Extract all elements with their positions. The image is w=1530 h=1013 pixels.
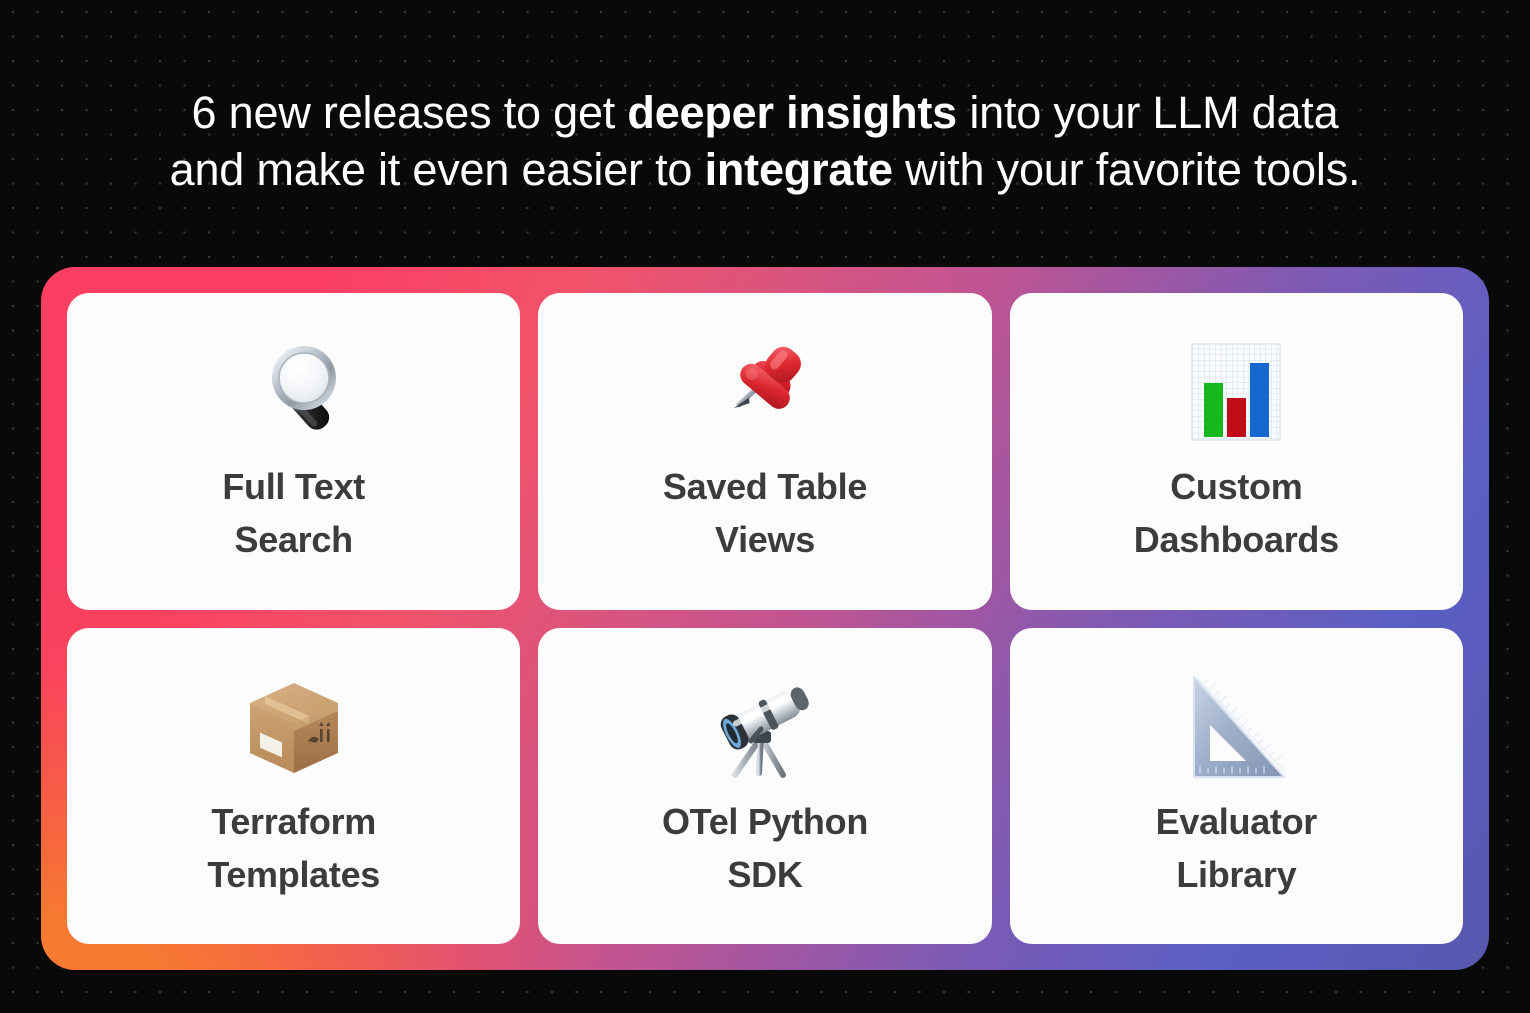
feature-card-full-text-search[interactable]: Full Text Search <box>67 293 520 610</box>
feature-card-row-top: Full Text Search <box>67 293 1463 610</box>
bar-chart-icon <box>1176 332 1296 452</box>
feature-card-label: Custom Dashboards <box>1134 460 1339 566</box>
feature-grid-panel: Full Text Search <box>41 267 1489 970</box>
feature-card-label: Full Text Search <box>222 460 365 566</box>
card-label-line-2: SDK <box>662 848 868 901</box>
card-label-line-1: Saved Table <box>663 460 867 513</box>
card-label-line-1: Custom <box>1134 460 1339 513</box>
headline-emphasis-1: deeper insights <box>627 87 957 138</box>
feature-card-custom-dashboards[interactable]: Custom Dashboards <box>1010 293 1463 610</box>
card-label-line-2: Dashboards <box>1134 513 1339 566</box>
card-label-line-2: Library <box>1156 848 1317 901</box>
feature-card-terraform-templates[interactable]: Terraform Templates <box>67 628 520 945</box>
feature-card-label: OTel Python SDK <box>662 795 868 901</box>
headline-emphasis-2: integrate <box>705 144 893 195</box>
feature-card-row-bottom: Terraform Templates <box>67 628 1463 945</box>
triangular-ruler-icon <box>1176 667 1296 787</box>
package-box-icon <box>234 667 354 787</box>
feature-card-label: Evaluator Library <box>1156 795 1317 901</box>
pushpin-icon <box>705 332 825 452</box>
card-label-line-2: Templates <box>207 848 380 901</box>
card-label-line-1: Full Text <box>222 460 365 513</box>
card-label-line-2: Views <box>663 513 867 566</box>
headline-text-1b: into your LLM data <box>957 87 1338 138</box>
page-headline: 6 new releases to get deeper insights in… <box>0 84 1530 198</box>
headline-line-2: and make it even easier to integrate wit… <box>0 141 1530 198</box>
telescope-icon <box>705 667 825 787</box>
headline-text-2a: and make it even easier to <box>170 144 705 195</box>
card-label-line-1: Evaluator <box>1156 795 1317 848</box>
feature-card-label: Terraform Templates <box>207 795 380 901</box>
headline-text-2b: with your favorite tools. <box>893 144 1361 195</box>
feature-card-otel-python-sdk[interactable]: OTel Python SDK <box>538 628 991 945</box>
card-label-line-1: OTel Python <box>662 795 868 848</box>
feature-card-evaluator-library[interactable]: Evaluator Library <box>1010 628 1463 945</box>
card-label-line-2: Search <box>222 513 365 566</box>
feature-card-saved-table-views[interactable]: Saved Table Views <box>538 293 991 610</box>
card-label-line-1: Terraform <box>207 795 380 848</box>
headline-text-1a: 6 new releases to get <box>192 87 628 138</box>
headline-line-1: 6 new releases to get deeper insights in… <box>0 84 1530 141</box>
magnifying-glass-icon <box>234 332 354 452</box>
feature-card-label: Saved Table Views <box>663 460 867 566</box>
